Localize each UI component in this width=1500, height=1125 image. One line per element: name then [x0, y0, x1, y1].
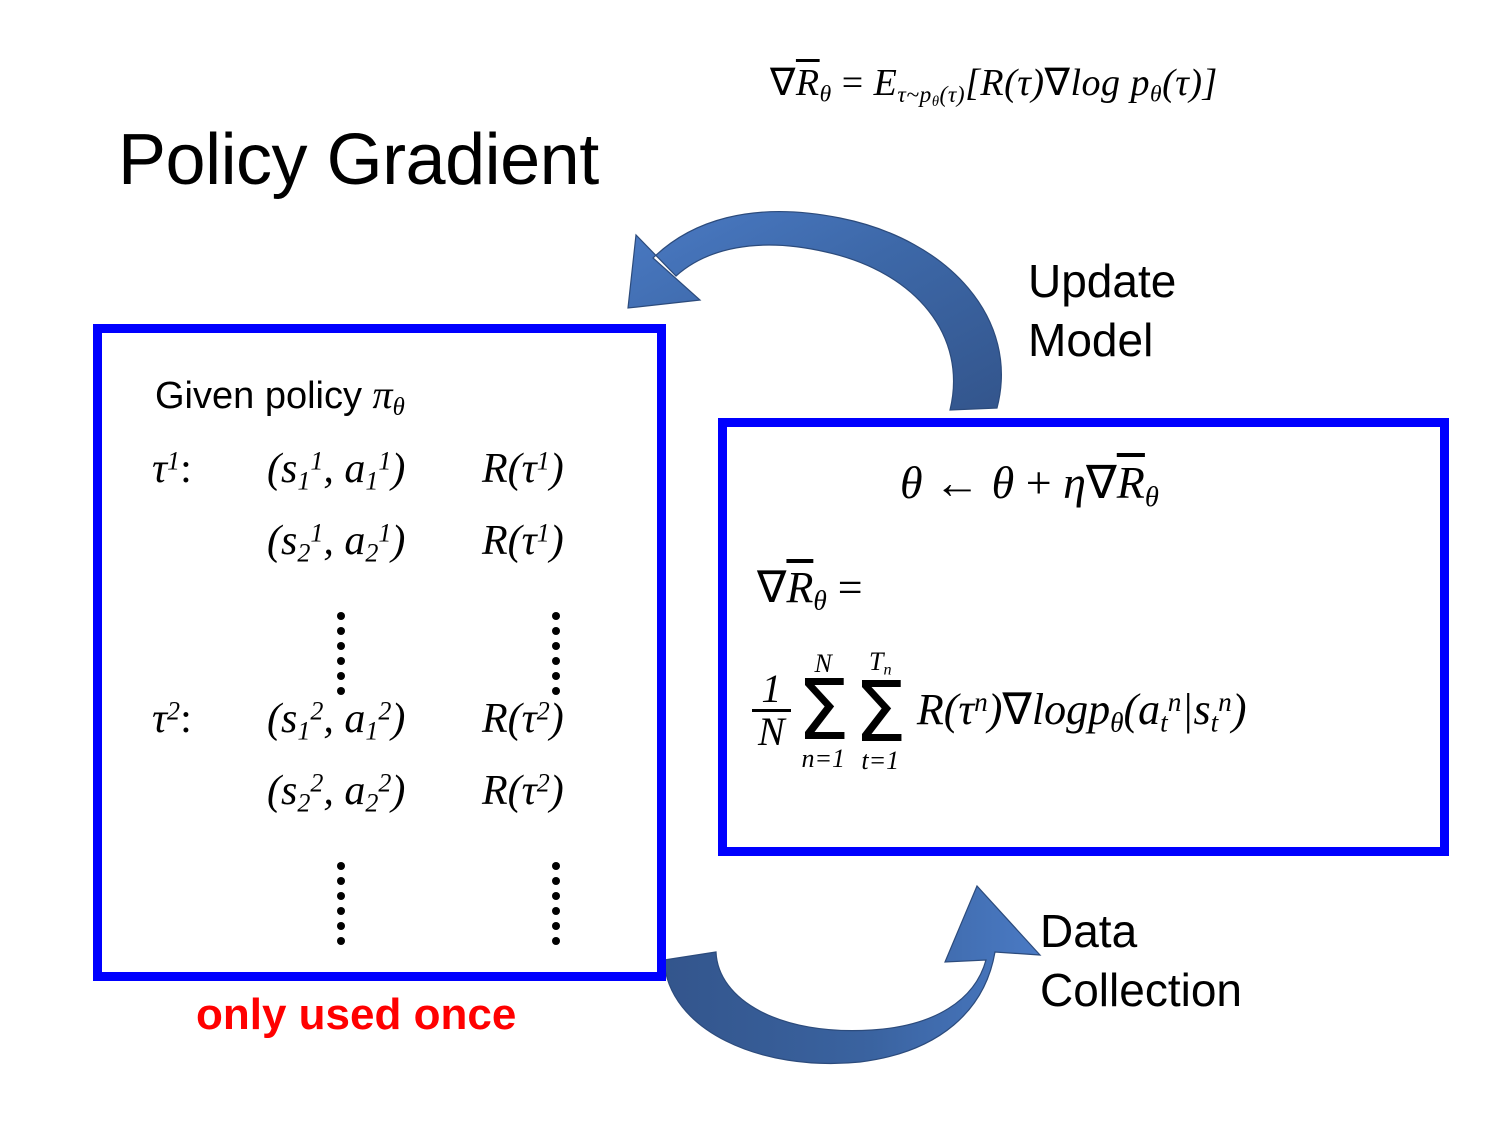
- trajectory-row: τ1: (s11, a11) R(τ1): [152, 445, 564, 517]
- reward-value: R(τ2): [482, 695, 564, 743]
- sampled-trajectories-box: [93, 324, 666, 981]
- vertical-ellipsis-rewards-2: [552, 862, 560, 945]
- slide-canvas: ∇Rθ = Eτ~pθ(τ)[R(τ)∇log pθ(τ)] Policy Gr…: [0, 0, 1500, 1125]
- outer-sum-lower-limit: n=1: [801, 745, 845, 772]
- trajectory-block-2: τ2: (s12, a12) R(τ2) (s22, a22) R(τ2): [152, 695, 564, 839]
- trajectory-label-1: τ1:: [152, 445, 267, 493]
- one-over-n-fraction: 1 N: [752, 669, 791, 752]
- outer-summation: N Σ n=1: [797, 650, 850, 772]
- parameter-update-rule: θ ← θ + η∇Rθ: [900, 455, 1159, 514]
- state-action-pair: (s22, a22): [267, 767, 482, 818]
- vertical-ellipsis-rewards-1: [552, 612, 560, 695]
- page-title: Policy Gradient: [118, 123, 599, 199]
- gradient-definition-rhs: 1 N N Σ n=1 Tn Σ t=1 R(τn)∇logpθ(atn|stn…: [752, 648, 1246, 774]
- update-model-label-line1: Update: [1028, 252, 1176, 311]
- state-action-pair: (s12, a12): [267, 695, 482, 746]
- trajectory-superscript: 1: [167, 447, 180, 476]
- reward-value: R(τ1): [482, 445, 564, 493]
- only-used-once-caption: only used once: [196, 990, 516, 1040]
- trajectory-row: τ2: (s12, a12) R(τ2): [152, 695, 564, 767]
- reward-value: R(τ2): [482, 767, 564, 815]
- state-action-pair: (s11, a11): [267, 445, 482, 496]
- sigma-glyph: Σ: [854, 679, 907, 746]
- update-model-label-line2: Model: [1028, 311, 1176, 370]
- trajectory-row: (s21, a21) R(τ1): [152, 517, 564, 589]
- gradient-definition-lhs: ∇Rθ =: [757, 562, 863, 617]
- trajectory-colon: :: [180, 696, 192, 742]
- data-collection-label: Data Collection: [1040, 902, 1242, 1020]
- vertical-ellipsis-pairs-1: [337, 612, 345, 695]
- trajectory-row: (s22, a22) R(τ2): [152, 767, 564, 839]
- reward-value: R(τ1): [482, 517, 564, 565]
- policy-theta-subscript: θ: [393, 394, 405, 421]
- vertical-ellipsis-pairs-2: [337, 862, 345, 945]
- inner-sum-lower-limit: t=1: [861, 747, 899, 774]
- fraction-numerator: 1: [755, 669, 787, 709]
- expected-reward-gradient-formula: ∇Rθ = Eτ~pθ(τ)[R(τ)∇log pθ(τ)]: [770, 60, 1470, 111]
- trajectory-superscript: 2: [167, 697, 180, 726]
- given-policy-text: Given policy: [155, 375, 373, 417]
- data-collection-label-line2: Collection: [1040, 961, 1242, 1020]
- data-collection-label-line1: Data: [1040, 902, 1242, 961]
- given-policy-heading: Given policy πθ: [155, 371, 405, 422]
- update-model-label: Update Model: [1028, 252, 1176, 370]
- gradient-summand: R(τn)∇logpθ(atn|stn): [917, 684, 1247, 739]
- trajectory-block-1: τ1: (s11, a11) R(τ1) (s21, a21) R(τ1): [152, 445, 564, 589]
- fraction-denominator: N: [752, 709, 791, 752]
- inner-summation: Tn Σ t=1: [854, 648, 907, 774]
- policy-symbol: πθ: [373, 372, 405, 417]
- update-model-arrow: [628, 212, 1001, 410]
- trajectory-label-2: τ2:: [152, 695, 267, 743]
- data-collection-arrow: [664, 886, 1040, 1063]
- state-action-pair: (s21, a21): [267, 517, 482, 568]
- sigma-glyph: Σ: [797, 677, 850, 744]
- trajectory-colon: :: [180, 446, 192, 492]
